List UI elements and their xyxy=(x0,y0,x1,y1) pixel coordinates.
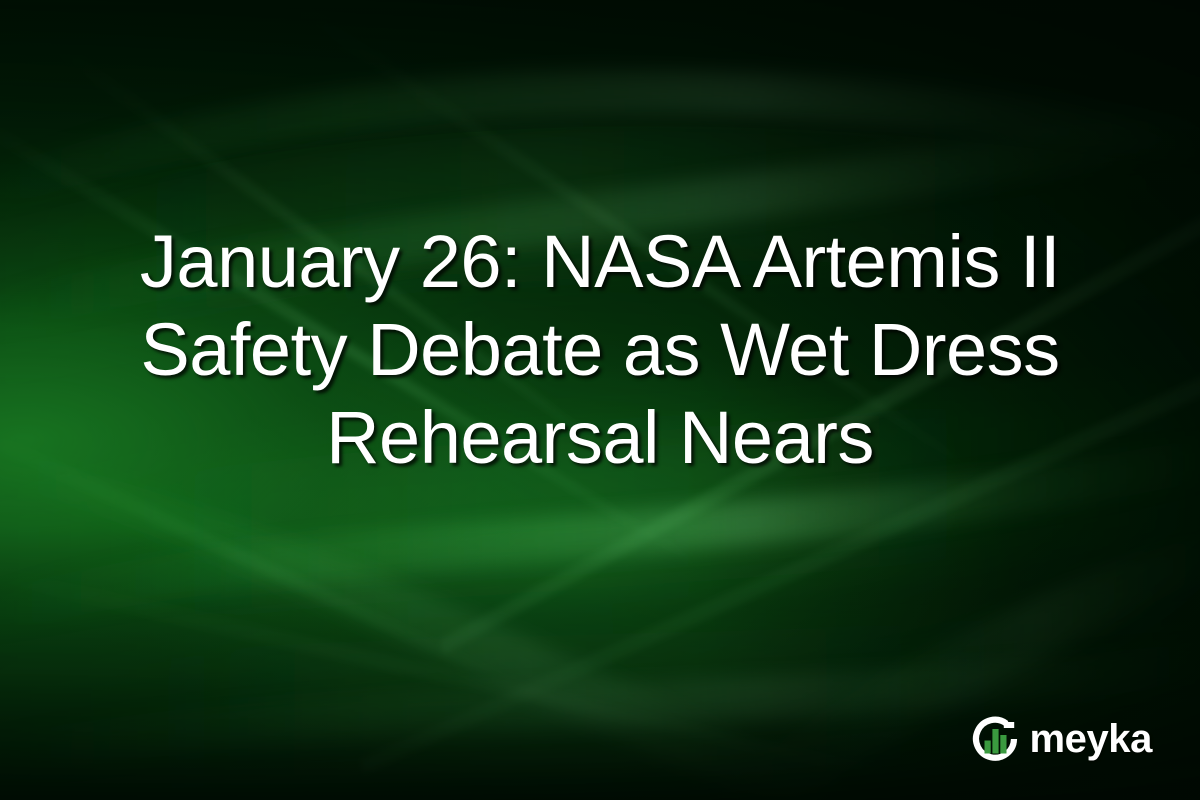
headline-line-2: Safety Debate as Wet Dress xyxy=(70,306,1130,394)
headline-line-3: Rehearsal Nears xyxy=(70,394,1130,482)
meyka-circle-bars-icon xyxy=(970,714,1020,764)
meyka-wordmark: meyka xyxy=(1029,719,1152,759)
banner-headline: January 26: NASA Artemis II Safety Debat… xyxy=(0,218,1200,482)
meyka-logo[interactable]: meyka xyxy=(970,714,1152,764)
headline-line-1: January 26: NASA Artemis II xyxy=(70,218,1130,306)
meyka-news-banner: January 26: NASA Artemis II Safety Debat… xyxy=(0,0,1200,800)
